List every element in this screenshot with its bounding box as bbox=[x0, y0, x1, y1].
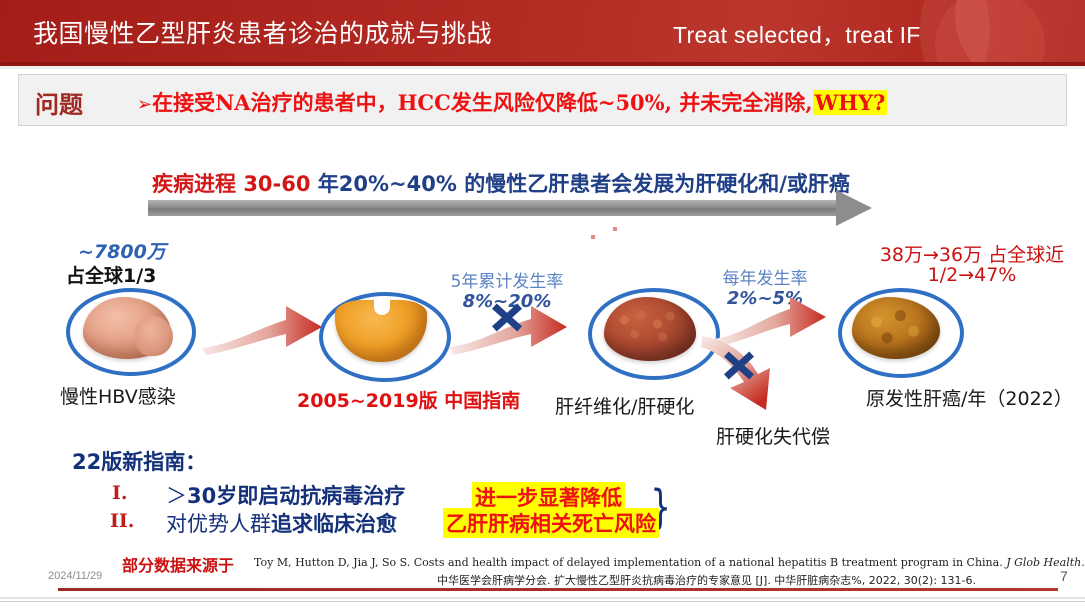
header-texture-3 bbox=[920, 0, 990, 62]
stage4-caption: 原发性肝癌/年（2022） bbox=[866, 384, 1073, 411]
footer-date: 2024/11/29 bbox=[48, 570, 102, 582]
slide-header: 我国慢性乙型肝炎患者诊治的成就与挑战 Treat selected，treat … bbox=[0, 0, 1085, 62]
stage3-caption: 肝纤维化/肝硬化 bbox=[555, 392, 694, 419]
guideline-item-2-emphasis: 追求临床治愈 bbox=[271, 512, 397, 536]
footer-reference-1-pre: Toy M, Hutton D, Jia J, So S. Costs and … bbox=[254, 556, 1006, 569]
footer-source-label: 部分数据来源于 bbox=[122, 552, 234, 576]
progression-text: 疾病进程 30-60 年20%~40% 的慢性乙肝患者会发展为肝硬化和/或肝癌 bbox=[152, 168, 850, 198]
footer-reference-2: 中华医学会肝病学分会. 扩大慢性乙型肝炎抗病毒治疗的专家意见 [J]. 中华肝脏… bbox=[437, 572, 976, 588]
blocked-x-icon-2 bbox=[722, 348, 756, 382]
question-text: ➢在接受NA治疗的患者中，HCC发生风险仅降低~50%, 并未完全消除,WHY? bbox=[137, 87, 887, 117]
slide-root: 我国慢性乙型肝炎患者诊治的成就与挑战 Treat selected，treat … bbox=[0, 0, 1085, 613]
transition2-label: 每年发生率 bbox=[700, 264, 830, 289]
footer-reference-1-post: . 2022; bbox=[1081, 556, 1085, 569]
progression-arrow-head-icon bbox=[836, 190, 872, 226]
guideline-item-2-prefix: 对优势人群 bbox=[166, 512, 271, 536]
stage2-liver-notch bbox=[374, 299, 390, 315]
header-subtitle: Treat selected，treat IF bbox=[673, 16, 921, 50]
progression-description: 年20%~40% 的慢性乙肝患者会发展为肝硬化和/或肝癌 bbox=[318, 172, 850, 196]
progression-years: 30-60 bbox=[243, 172, 310, 196]
stage2-caption: 2005~2019版 中国指南 bbox=[297, 386, 520, 413]
guideline-item-2-text: 对优势人群追求临床治愈 bbox=[166, 508, 397, 538]
stage1-liver-lobe bbox=[135, 316, 173, 356]
stage1-count: ~7800万 bbox=[78, 237, 166, 264]
question-highlight: WHY? bbox=[813, 90, 888, 115]
guideline-item-1-text: ＞30岁即启动抗病毒治疗 bbox=[166, 480, 405, 510]
stage1-caption: 慢性HBV感染 bbox=[60, 382, 176, 409]
stage4-stat-line1: 38万→36万 占全球近 bbox=[862, 240, 1082, 267]
progression-title: 疾病进程 bbox=[152, 172, 236, 196]
footer-reference-1-journal: J Glob Health bbox=[1006, 556, 1081, 569]
footer-divider-gray-2 bbox=[0, 601, 1085, 602]
blocked-x-icon-1 bbox=[490, 300, 524, 334]
decompensation-caption: 肝硬化失代偿 bbox=[716, 422, 830, 449]
progression-arrow-bar bbox=[148, 200, 838, 216]
guidelines-title: 22版新指南： bbox=[72, 446, 206, 476]
decorative-dot-1 bbox=[591, 235, 595, 239]
transition1-label: 5年累计发生率 bbox=[437, 267, 577, 292]
stage1-share: 占全球1/3 bbox=[66, 261, 156, 288]
question-bar: 问题 ➢在接受NA治疗的患者中，HCC发生风险仅降低~50%, 并未完全消除,W… bbox=[18, 74, 1067, 126]
footer-divider-red bbox=[58, 588, 1058, 591]
page-title: 我国慢性乙型肝炎患者诊治的成就与挑战 bbox=[33, 14, 492, 50]
transition-arrow-1-icon bbox=[200, 300, 330, 360]
question-bullet-icon: ➢ bbox=[137, 94, 152, 115]
guideline-item-1-prefix: ＞ bbox=[166, 484, 187, 508]
decorative-dot-2 bbox=[613, 227, 617, 231]
stage4-stat-line2: 1/2→47% bbox=[862, 264, 1082, 286]
question-label: 问题 bbox=[35, 85, 83, 120]
guideline-item-1-number: I. bbox=[112, 482, 128, 504]
header-divider-light bbox=[0, 66, 1085, 69]
footer-divider-gray bbox=[0, 597, 1085, 599]
guideline-item-1-emphasis: 30岁即启动抗病毒治疗 bbox=[187, 484, 405, 508]
footer-reference-1: Toy M, Hutton D, Jia J, So S. Costs and … bbox=[254, 556, 1085, 569]
footer-page-number: 7 bbox=[1060, 568, 1068, 584]
guideline-item-2-number: II. bbox=[110, 510, 134, 532]
guidelines-highlight-line2: 乙肝肝病相关死亡风险 bbox=[443, 508, 659, 538]
question-body: 在接受NA治疗的患者中，HCC发生风险仅降低~50%, 并未完全消除, bbox=[152, 90, 812, 115]
